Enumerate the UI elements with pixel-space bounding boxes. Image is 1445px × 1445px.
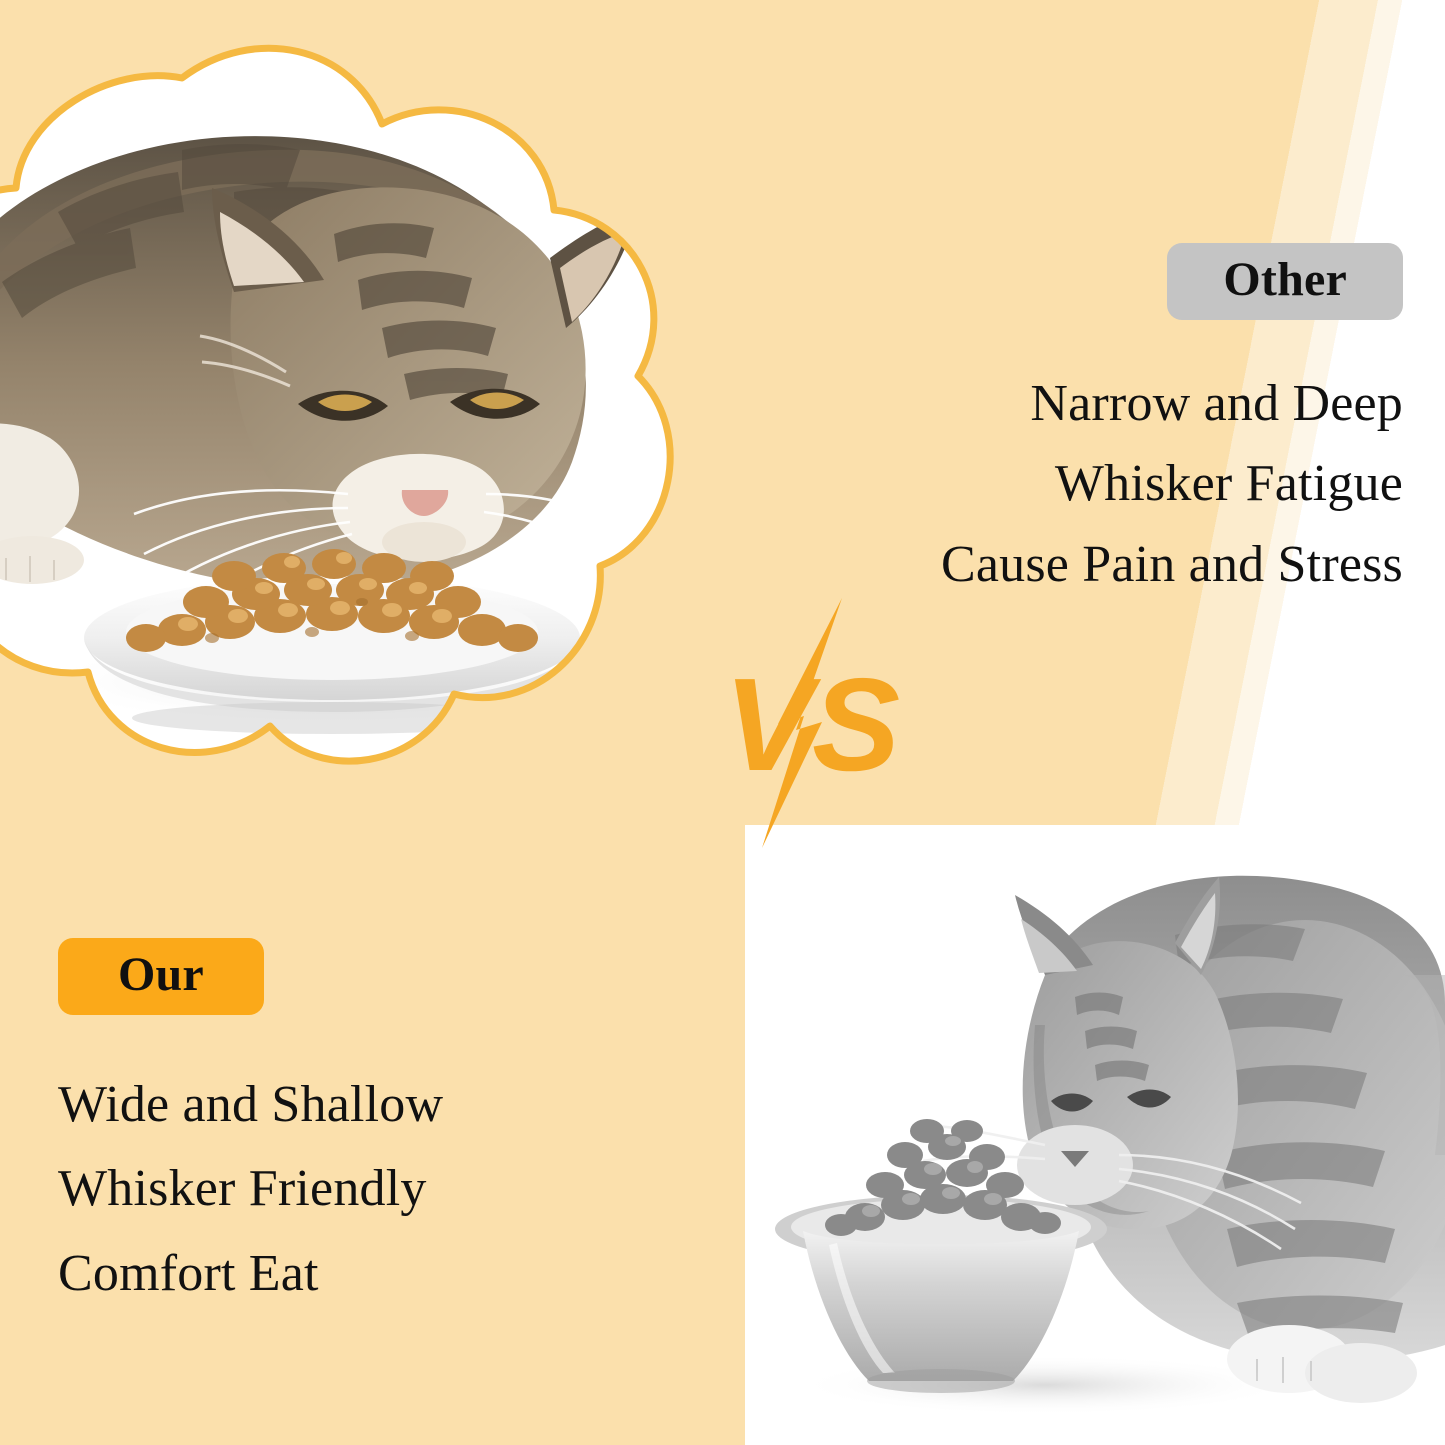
vs-label: VS: [724, 651, 900, 798]
our-column: Our Wide and Shallow Whisker Friendly Co…: [58, 938, 698, 1328]
our-badge: Our: [58, 938, 264, 1015]
other-feature-item: Whisker Fatigue: [743, 454, 1403, 514]
other-badge: Other: [1167, 243, 1403, 320]
other-feature-list: Narrow and Deep Whisker Fatigue Cause Pa…: [743, 374, 1403, 595]
our-feature-item: Comfort Eat: [58, 1244, 698, 1304]
vs-divider: VS: [700, 598, 930, 848]
our-photo-flower-frame: [0, 42, 770, 794]
other-feature-item: Narrow and Deep: [743, 374, 1403, 434]
our-feature-item: Whisker Friendly: [58, 1159, 698, 1219]
our-feature-list: Wide and Shallow Whisker Friendly Comfor…: [58, 1075, 698, 1304]
comparison-infographic: VS Other Narrow and Deep Whisker Fatigue…: [0, 0, 1445, 1445]
other-photo-gray-cat-deep-bowl: [745, 825, 1445, 1445]
other-feature-item: Cause Pain and Stress: [743, 535, 1403, 595]
other-column: Other Narrow and Deep Whisker Fatigue Ca…: [743, 243, 1403, 595]
our-feature-item: Wide and Shallow: [58, 1075, 698, 1135]
